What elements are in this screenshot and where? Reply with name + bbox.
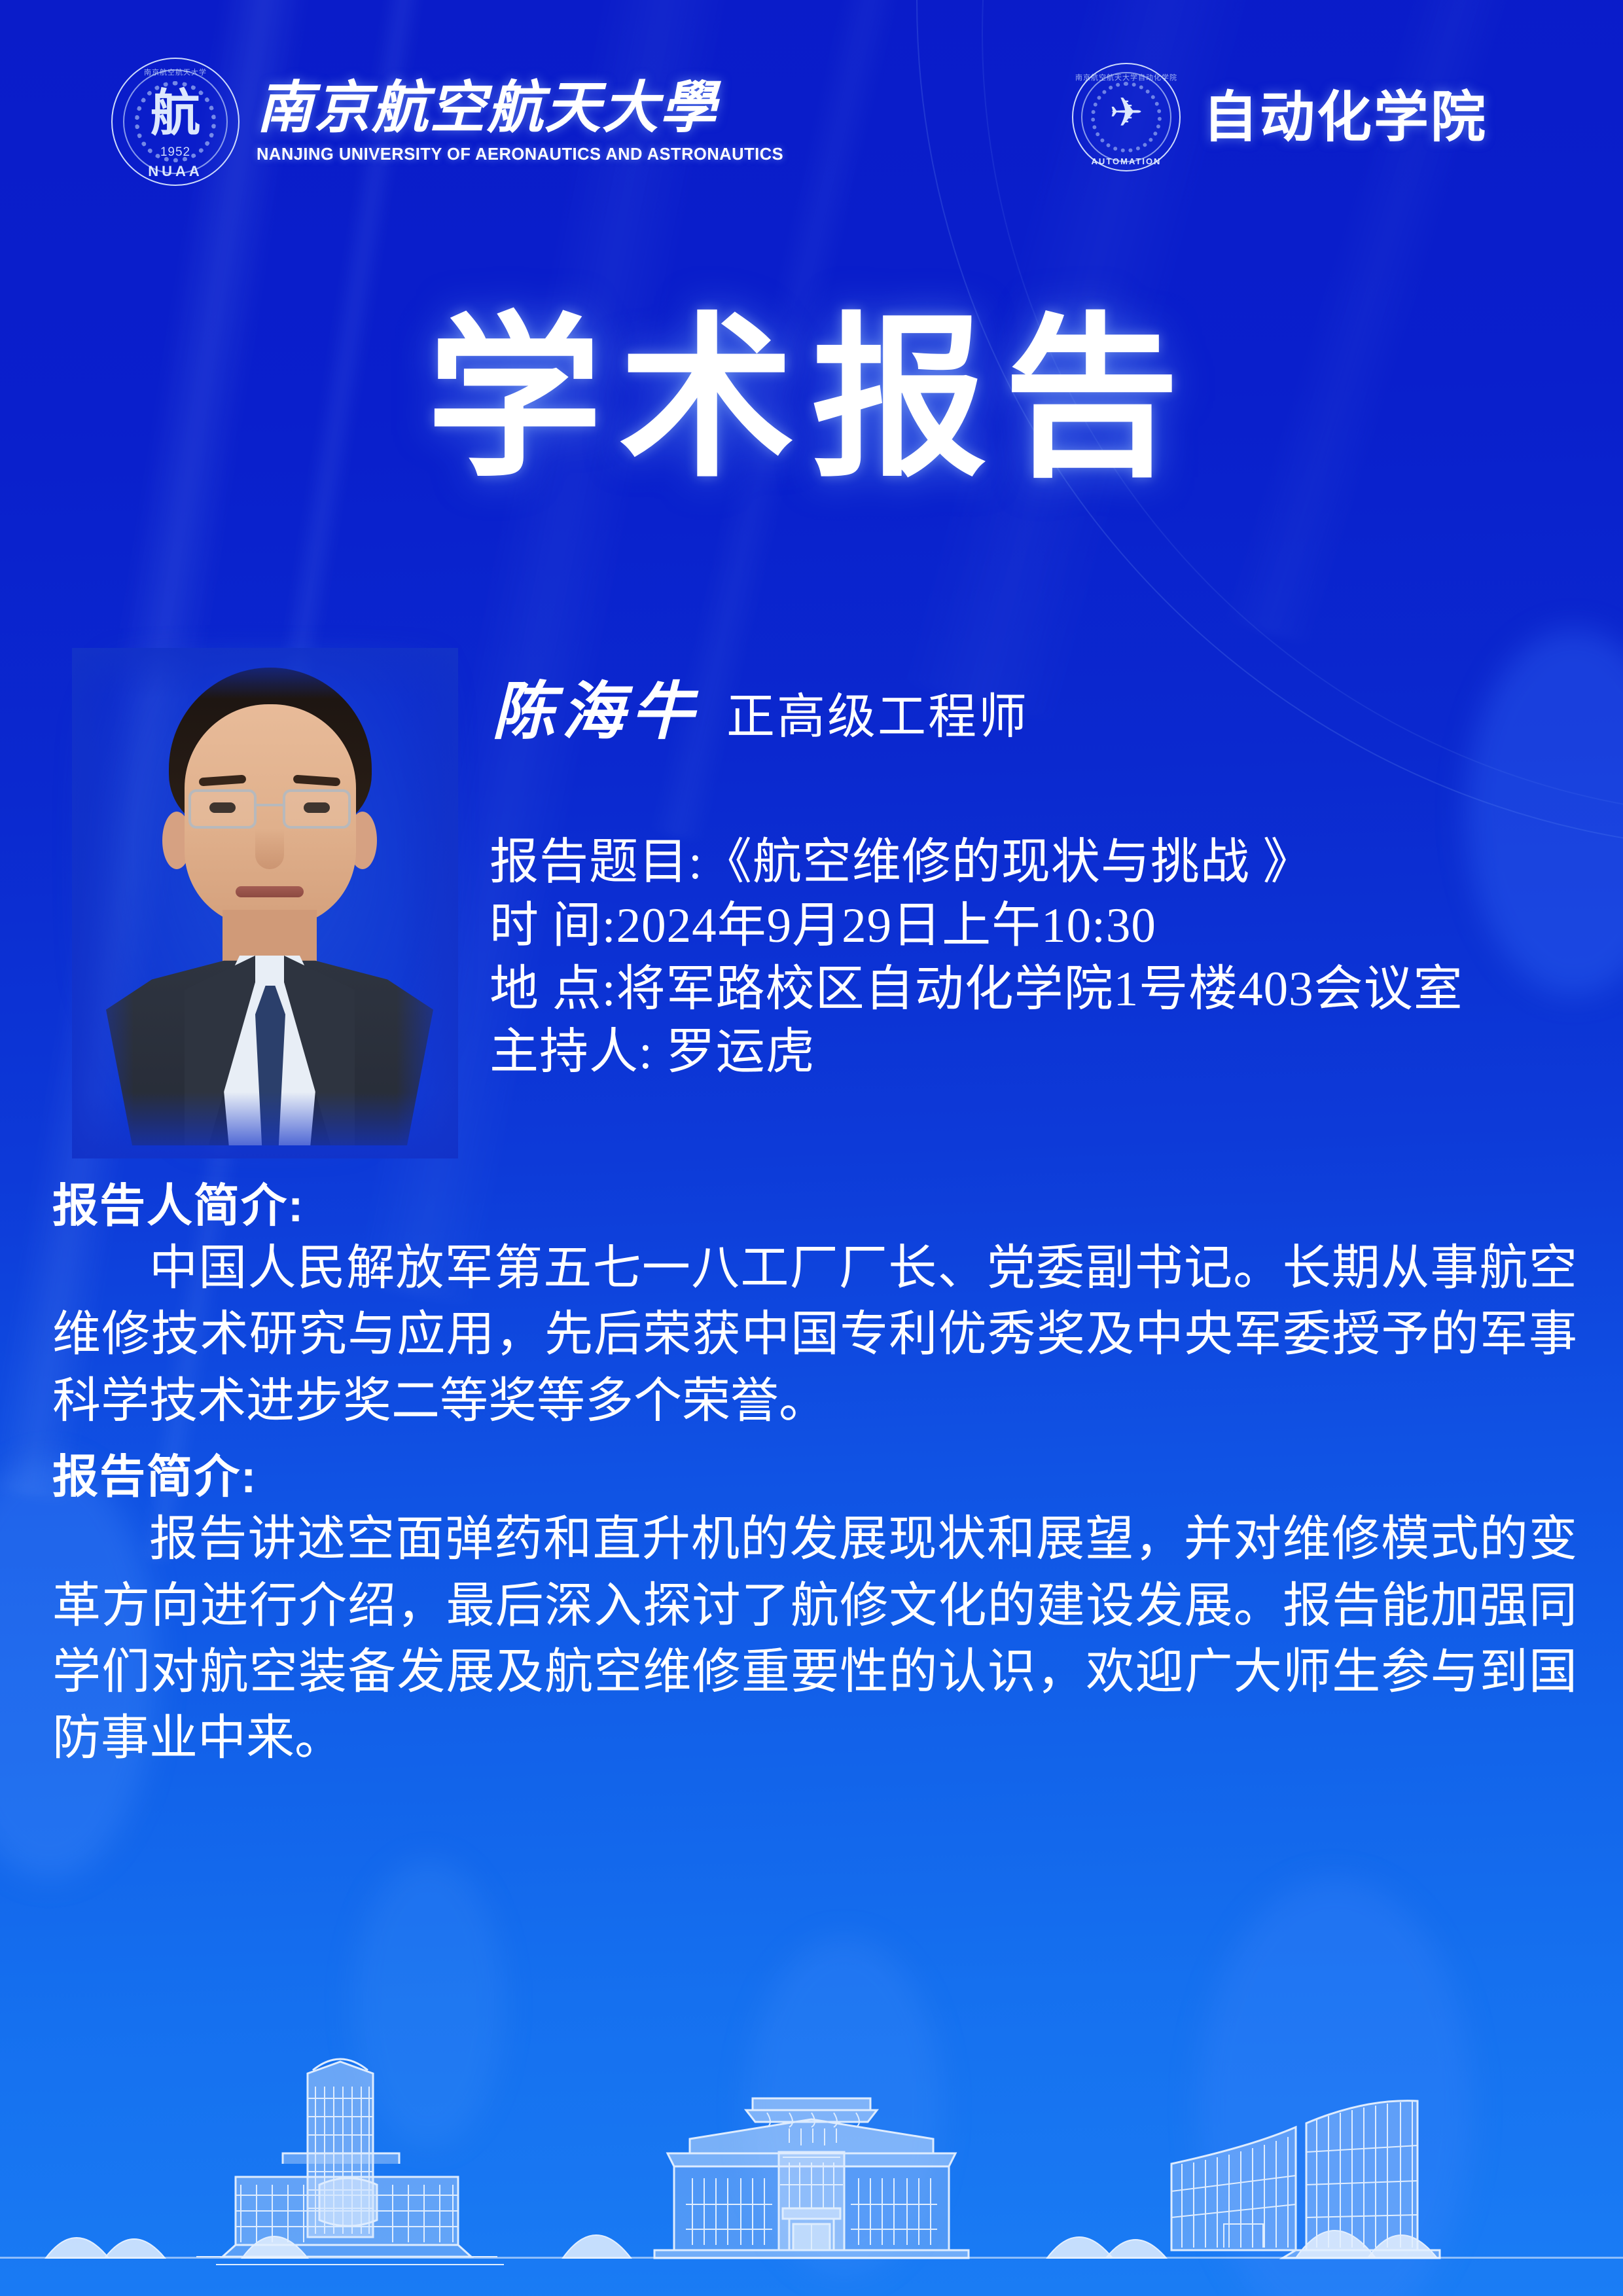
speaker-name: 陈海牛 [492,681,700,744]
event-host: 主持人: 罗运虎 [490,1021,1602,1085]
college-seal-icon: 南京航空航天大学自动化学院 ✈ AUTOMATION [1072,63,1181,171]
college-seal-micro-text: 南京航空航天大学自动化学院 [1073,72,1179,82]
building-center [654,2098,969,2258]
event-details: 报告题目:《航空维修的现状与挑战 》 时 间:2024年9月29日上午10:30… [490,831,1602,1085]
poster-header: 南京航空航天大学 航 1952 NUAA 南京航空航天大學 NANJING UN… [0,0,1623,216]
college-name-cn: 自动化学院 [1203,90,1488,145]
poster-title-text: 学术报告 [427,297,1196,501]
nuaa-seal-icon: 南京航空航天大学 航 1952 NUAA [111,58,240,186]
poster-title: 学术报告 [0,312,1623,487]
college-seal-abbr: AUTOMATION [1092,156,1162,166]
building-right [1171,2101,1440,2258]
speaker-line: 陈海牛 正高级工程师 [492,681,1029,744]
event-time: 时 间:2024年9月29日上午10:30 [490,895,1602,958]
university-name-en: NANJING UNIVERSITY OF AERONAUTICS AND AS… [257,145,783,164]
campus-skyline-illustration [0,1988,1623,2296]
speaker-bio-paragraph: 中国人民解放军第五七一八工厂厂长、党委副书记。长期从事航空维修技术研究与应用，先… [52,1236,1577,1435]
university-name-cn: 南京航空航天大學 [257,80,783,136]
nuaa-seal-micro-text: 南京航空航天大学 [113,67,238,77]
nuaa-seal-abbr: NUAA [148,163,203,180]
academic-lecture-poster: 南京航空航天大学 航 1952 NUAA 南京航空航天大學 NANJING UN… [0,0,1623,2296]
abstract-paragraph: 报告讲述空面弹药和直升机的发展现状和展望，并对维修模式的变革方向进行介绍，最后深… [52,1507,1577,1772]
nuaa-seal-year: 1952 [160,145,190,160]
speaker-portrait [72,648,458,1158]
event-place: 地 点:将军路校区自动化学院1号楼403会议室 [490,958,1602,1022]
speaker-rank: 正高级工程师 [726,693,1029,742]
abstract-heading: 报告简介: [52,1449,1577,1504]
building-left [196,2059,504,2265]
speaker-bio-heading: 报告人简介: [52,1178,1577,1233]
event-topic: 报告题目:《航空维修的现状与挑战 》 [490,831,1602,895]
university-brand: 南京航空航天大学 航 1952 NUAA 南京航空航天大學 NANJING UN… [111,58,783,186]
college-brand: 南京航空航天大学自动化学院 ✈ AUTOMATION 自动化学院 [1072,63,1488,171]
nuaa-seal-glyph: 航 [151,89,200,139]
poster-body: 报告人简介: 中国人民解放军第五七一八工厂厂长、党委副书记。长期从事航空维修技术… [52,1178,1577,1772]
college-seal-glyph: ✈ [1109,93,1143,134]
